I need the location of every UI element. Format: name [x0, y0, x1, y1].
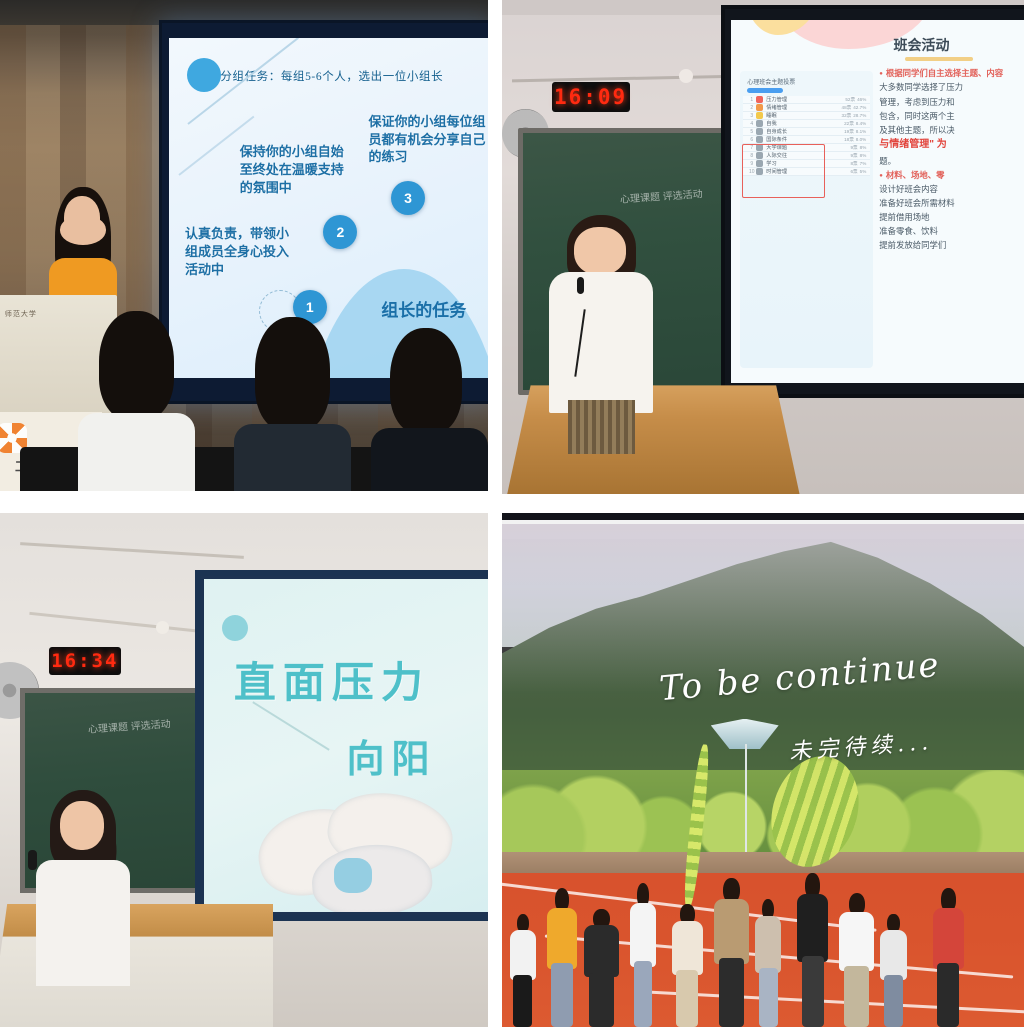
poll-row-votes: 32票: [842, 113, 852, 119]
runner-torso: [510, 930, 536, 980]
audience-head: [99, 311, 174, 421]
audience-head: [390, 328, 463, 435]
poll-row-votes: 48票: [842, 105, 852, 111]
collage-panel-bottom-right[interactable]: To be continue 未完待续...: [502, 513, 1024, 1027]
poll-row-index: 4: [747, 121, 756, 127]
poll-row-color-swatch: [756, 120, 763, 127]
runner: [753, 899, 784, 1027]
chalkboard-writing: 心理课题 评选活动: [620, 187, 704, 208]
poll-row-percent: 46%: [857, 97, 866, 102]
slide-text-block-1: 认真负责，带领小组成员全身心投入活动中: [185, 225, 301, 279]
poll-row-index: 6: [747, 137, 756, 143]
slide-body-line: 大多数同学选择了压力: [879, 80, 1022, 94]
digital-clock: 16:09: [552, 82, 630, 112]
slide-big-title: 组长的任务: [381, 296, 466, 321]
poll-row-color-swatch: [756, 136, 763, 143]
slide-face-stress: 直面压力 向阳: [204, 579, 488, 912]
slide-body-line: 准备好班会所需材料: [879, 196, 1022, 210]
speaker-white-shirt: [549, 222, 653, 449]
projection-screen-bottom-left: 直面压力 向阳: [195, 570, 488, 921]
speaker-body: [36, 860, 130, 986]
speaker-head: [574, 227, 626, 275]
runner-legs: [844, 966, 869, 1027]
poll-row-color-swatch: [756, 96, 763, 103]
poll-row-color-swatch: [756, 128, 763, 135]
chalkboard-writing: 心理课题 评选活动: [87, 717, 171, 738]
audience-member: [371, 334, 488, 491]
slide-title-underline: [905, 57, 974, 61]
slide-title: 班会活动: [893, 35, 1022, 55]
runner-legs: [513, 975, 532, 1027]
runner-legs: [719, 958, 744, 1027]
runner-torso: [797, 894, 828, 962]
digital-clock: 16:34: [49, 647, 121, 675]
runner-torso: [672, 921, 703, 975]
poll-row-votes: 6票: [850, 169, 857, 175]
slide-title-line-1: 直面压力: [234, 649, 430, 710]
runner-legs: [634, 961, 653, 1027]
speaker-ponytail: [34, 801, 132, 976]
poll-row-percent: 42.7%: [853, 105, 866, 110]
slide-body-line: 材料、场地、零: [879, 168, 1022, 182]
poll-row-votes: 52票: [845, 97, 855, 103]
runner-legs: [759, 968, 778, 1027]
projection-screen-top-right: 心理班会主题投票 1压力管理52票46%2情绪管理48票42.7%3睡眠32票2…: [721, 5, 1024, 398]
hand-accent: [334, 858, 371, 893]
slide-class-meeting: 心理班会主题投票 1压力管理52票46%2情绪管理48票42.7%3睡眠32票2…: [731, 20, 1024, 382]
poll-row-index: 3: [747, 113, 756, 119]
poll-row-percent: 28.7%: [853, 113, 866, 118]
poll-row-percent: 7%: [860, 161, 867, 166]
runner-torso: [755, 916, 781, 973]
poll-row-color-swatch: [756, 104, 763, 111]
poll-row-label: 睡眠: [766, 112, 839, 119]
speaker-body: [549, 272, 653, 413]
audience-member: [78, 314, 195, 491]
slide-body-line: 提前借用场地: [879, 210, 1022, 224]
clasped-hands-illustration: [258, 772, 466, 912]
runner-torso: [630, 903, 656, 966]
slide-body-line: 管理，考虑到压力和: [879, 95, 1022, 109]
runner: [507, 914, 538, 1027]
runner: [580, 909, 622, 1027]
audience-shoulders: [371, 428, 488, 491]
poll-row-index: 5: [747, 129, 756, 135]
runner: [836, 893, 878, 1027]
slide-body-line: 包含，同时这两个主: [879, 109, 1022, 123]
runner-legs: [676, 970, 698, 1027]
slide-text-column: 班会活动 根据同学们自主选择主题、内容大多数同学选择了压力管理，考虑到压力和包含…: [879, 31, 1024, 371]
poll-row-votes: 22票: [844, 121, 854, 127]
runner-torso: [839, 912, 874, 971]
poll-row-color-swatch: [756, 112, 763, 119]
poll-row-votes: 8票: [850, 161, 857, 167]
poll-row-percent: 5%: [860, 169, 867, 174]
top-white-bar: [502, 520, 1024, 524]
slide-body-line: 提前发放给同学们: [879, 238, 1022, 252]
runner-torso: [880, 930, 906, 980]
slide-body-line: 与情绪管理" 为: [879, 137, 1022, 154]
kite-pole: [745, 744, 747, 852]
runner-legs: [937, 963, 959, 1027]
poll-row-votes: 9票: [850, 145, 857, 151]
photo-collage: 分组任务：每组5-6个人，选出一位小组长 保持你的小组自始至终处在温暖支持的氛围…: [0, 0, 1024, 1027]
poll-highlight-box: [742, 144, 825, 198]
poll-row-percent: 8.0%: [856, 137, 866, 142]
runner: [794, 873, 831, 1027]
poll-row[interactable]: 3睡眠32票28.7%: [743, 112, 870, 120]
audience-shoulders: [78, 413, 195, 491]
poll-row-votes: 18票: [844, 137, 854, 143]
slide-body-line: 及其他主题，所以决: [879, 123, 1022, 137]
podium-label: 师范大学: [5, 309, 37, 319]
runner: [711, 878, 753, 1027]
collage-panel-top-left[interactable]: 分组任务：每组5-6个人，选出一位小组长 保持你的小组自始至终处在温暖支持的氛围…: [0, 0, 488, 491]
slide-text-block-2: 保持你的小组自始至终处在温暖支持的氛围中: [240, 143, 349, 197]
poll-row-votes: 9票: [850, 153, 857, 159]
microphone-icon: [28, 850, 37, 870]
slide-badge-3: 3: [391, 181, 425, 215]
poll-row[interactable]: 4自我22票8.4%: [743, 120, 870, 128]
poll-row-label: 自我: [766, 120, 842, 127]
runner-torso: [584, 925, 619, 977]
poll-row-votes: 19票: [844, 129, 854, 135]
poll-row[interactable]: 5自身成长19票8.1%: [743, 128, 870, 136]
runner: [930, 888, 967, 1027]
poll-row-percent: 8.1%: [856, 129, 866, 134]
runner-legs: [884, 975, 903, 1027]
slide-badge-2: 2: [323, 215, 357, 249]
poll-chip: [747, 88, 783, 93]
speaker-fringe: [60, 215, 107, 245]
poll-row[interactable]: 1压力管理52票46%: [743, 96, 870, 104]
slide-bullet-dot: [187, 58, 221, 92]
slide-body-line: 根据同学们自主选择主题、内容: [879, 66, 1022, 80]
slide-body-line: 准备零食、饮料: [879, 224, 1022, 238]
microphone-icon: [577, 277, 584, 294]
runner: [627, 883, 658, 1027]
runner-torso: [933, 908, 964, 969]
poll-row-percent: 8.4%: [856, 121, 866, 126]
runner: [878, 914, 909, 1027]
poll-row-label: 国际条件: [766, 136, 842, 143]
slide-body-line: 题。: [879, 154, 1022, 168]
collage-panel-bottom-left[interactable]: 16:34 心理课题 评选活动 直面压力 向阳: [0, 513, 488, 1027]
poll-row[interactable]: 6国际条件18票8.0%: [743, 136, 870, 144]
collage-panel-top-right[interactable]: 16:09 心理课题 评选活动 心理班会主题投票 1压力管理52票46%2情绪管…: [502, 0, 1024, 494]
slide-text-block-3: 保证你的小组每位组员都有机会分享自己的练习: [368, 113, 488, 167]
runner-legs: [589, 973, 614, 1027]
poll-row-index: 2: [747, 105, 756, 111]
poll-row-index: 1: [747, 97, 756, 103]
poll-row-label: 自身成长: [766, 128, 842, 135]
runner-legs: [551, 963, 573, 1027]
audience-head: [255, 317, 330, 431]
runner: [544, 888, 581, 1027]
runner-torso: [714, 899, 749, 965]
audience-member: [234, 324, 351, 491]
poll-row-percent: 8%: [860, 145, 867, 150]
runner-torso: [547, 908, 578, 969]
poll-title: 心理班会主题投票: [747, 77, 870, 86]
slide-body-lines: 根据同学们自主选择主题、内容大多数同学选择了压力管理，考虑到压力和包含，同时这两…: [879, 66, 1022, 252]
slide-dot: [222, 615, 248, 641]
audience-shoulders: [234, 424, 351, 491]
wall-knob: [156, 621, 169, 634]
poll-row-percent: 8%: [860, 153, 867, 158]
poll-panel: 心理班会主题投票 1压力管理52票46%2情绪管理48票42.7%3睡眠32票2…: [740, 71, 873, 368]
poll-row[interactable]: 2情绪管理48票42.7%: [743, 104, 870, 112]
speaker-plaid-skirt: [568, 400, 635, 455]
runner: [669, 904, 706, 1027]
slide-body-line: 设计好班会内容: [879, 182, 1022, 196]
speaker-head: [60, 801, 105, 850]
top-black-bar: [502, 513, 1024, 520]
poll-row-label: 压力管理: [766, 96, 843, 103]
poll-row-label: 情绪管理: [766, 104, 839, 111]
runner-legs: [802, 956, 824, 1027]
